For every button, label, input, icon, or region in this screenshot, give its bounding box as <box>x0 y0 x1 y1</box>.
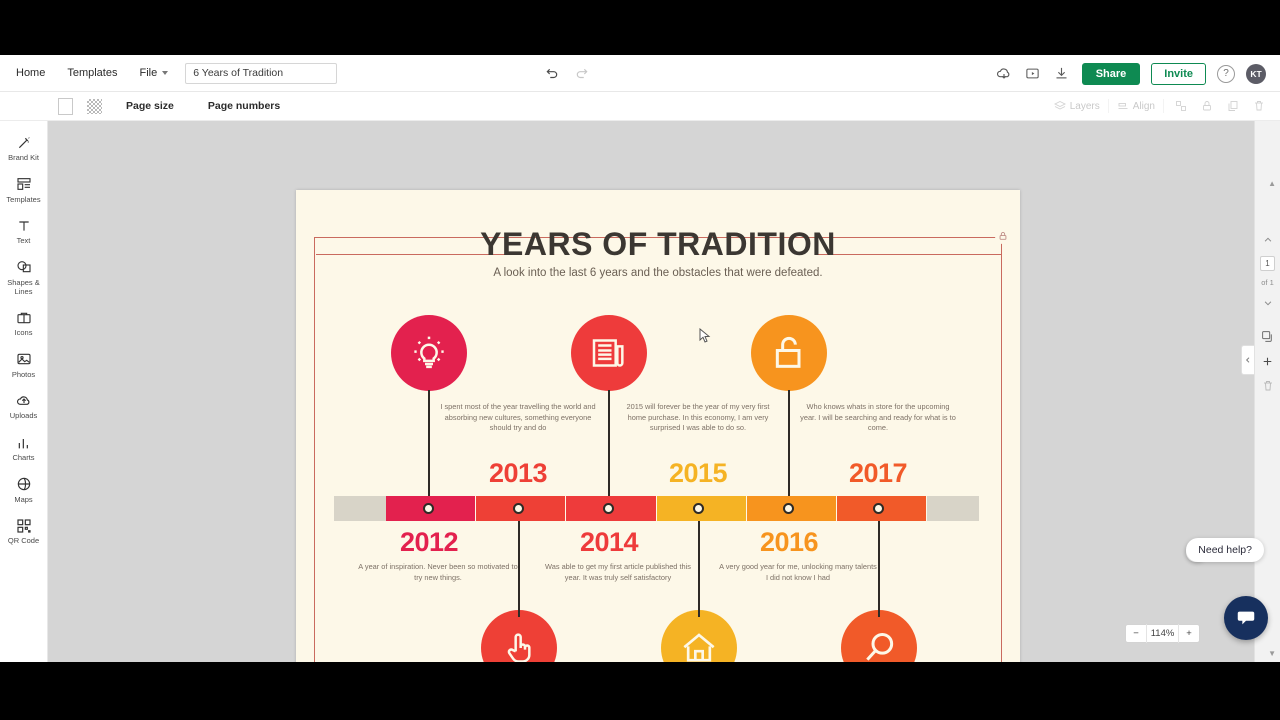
top-right-actions: Share Invite ? KT <box>995 55 1266 92</box>
sidebar-item-shapes-lines[interactable]: Shapes & Lines <box>0 252 48 302</box>
shapes-icon <box>15 259 32 276</box>
download-icon[interactable] <box>1053 65 1071 83</box>
event-text-2017[interactable]: Who knows whats in store for the upcomin… <box>798 402 958 434</box>
delete-page-icon[interactable] <box>1259 377 1277 395</box>
zoom-in-button[interactable]: + <box>1179 624 1199 643</box>
year-label-2015[interactable]: 2015 <box>638 458 758 489</box>
zoom-control: − 114% + <box>1125 624 1200 643</box>
scroll-down-arrow[interactable]: ▼ <box>1268 649 1276 658</box>
chat-button[interactable] <box>1224 596 1268 640</box>
stem-2012 <box>518 512 520 617</box>
toolbar-divider-2 <box>1163 99 1164 113</box>
sidebar-label-templates: Templates <box>6 196 40 205</box>
sidebar-label-icons: Icons <box>15 329 33 338</box>
sidebar-item-templates[interactable]: Templates <box>0 169 48 211</box>
invite-button[interactable]: Invite <box>1151 63 1206 85</box>
design-page[interactable]: YEARS OF TRADITION A look into the last … <box>296 190 1020 662</box>
undo-redo-group <box>543 55 591 92</box>
timeline-dot-2013 <box>423 503 434 514</box>
decorative-frame <box>314 237 1002 662</box>
year-label-2014[interactable]: 2014 <box>549 527 669 558</box>
toolbar-left-group: Page size Page numbers <box>0 98 290 115</box>
nav-file-menu[interactable]: File <box>128 55 179 92</box>
sidebar-item-photos[interactable]: Photos <box>0 344 48 386</box>
sidebar-item-maps[interactable]: Maps <box>0 469 48 511</box>
uploads-icon <box>15 392 32 409</box>
sidebar-item-brand-kit[interactable]: Brand Kit <box>0 127 48 169</box>
align-label: Align <box>1133 101 1155 112</box>
text-icon <box>15 217 32 234</box>
need-help-bubble[interactable]: Need help? <box>1186 538 1264 562</box>
stem-2014 <box>698 512 700 617</box>
chevron-down-icon <box>162 71 168 75</box>
letterbox-bottom <box>0 662 1280 720</box>
sidebar-item-charts[interactable]: Charts <box>0 427 48 469</box>
avatar[interactable]: KT <box>1246 64 1266 84</box>
sidebar-item-icons[interactable]: Icons <box>0 302 48 344</box>
duplicate-page-icon[interactable] <box>1259 327 1277 345</box>
present-icon[interactable] <box>1024 65 1042 83</box>
sidebar-label-shapes-lines: Shapes & Lines <box>0 279 48 296</box>
zoom-level-value[interactable]: 114% <box>1146 624 1179 643</box>
sidebar-label-photos: Photos <box>12 371 35 380</box>
transparency-pattern-swatch[interactable] <box>87 99 102 114</box>
left-sidebar: Brand Kit Templates Text <box>0 121 48 662</box>
stem-2015 <box>608 390 610 503</box>
share-button[interactable]: Share <box>1082 63 1141 85</box>
duplicate-icon[interactable] <box>1224 97 1242 115</box>
event-text-2013[interactable]: I spent most of the year travelling the … <box>438 402 598 434</box>
group-icon[interactable] <box>1172 97 1190 115</box>
page-title[interactable]: YEARS OF TRADITION <box>296 226 1020 263</box>
nav-file-label: File <box>139 67 157 79</box>
page-size-button[interactable]: Page size <box>116 100 184 112</box>
timeline-dot-2016 <box>873 503 884 514</box>
undo-icon[interactable] <box>543 65 561 83</box>
stem-2017 <box>788 390 790 503</box>
background-color-swatch[interactable] <box>58 98 73 115</box>
event-text-2014[interactable]: Was able to get my first article publish… <box>538 562 698 583</box>
event-text-2016[interactable]: A very good year for me, unlocking many … <box>718 562 878 583</box>
icons-icon <box>15 309 32 326</box>
secondary-toolbar: Page size Page numbers Layers Align <box>0 92 1280 121</box>
trash-icon[interactable] <box>1250 97 1268 115</box>
year-label-2017[interactable]: 2017 <box>818 458 938 489</box>
page-numbers-button[interactable]: Page numbers <box>198 100 290 112</box>
page-number-total: of 1 <box>1261 278 1274 287</box>
cloud-sync-icon[interactable] <box>995 65 1013 83</box>
qrcode-icon <box>15 517 32 534</box>
sidebar-label-brand-kit: Brand Kit <box>8 154 39 163</box>
timeline-dot-2015 <box>603 503 614 514</box>
toolbar-divider <box>1108 99 1109 113</box>
layers-button[interactable]: Layers <box>1054 100 1100 112</box>
event-text-2015[interactable]: 2015 will forever be the year of my very… <box>618 402 778 434</box>
nav-home[interactable]: Home <box>0 55 56 92</box>
sidebar-label-uploads: Uploads <box>10 412 38 421</box>
timeline-dot-2014 <box>693 503 704 514</box>
top-navigation-bar: Home Templates File <box>0 55 1280 92</box>
sidebar-item-qr-code[interactable]: QR Code <box>0 510 48 552</box>
stem-2016 <box>878 512 880 617</box>
year-label-2016[interactable]: 2016 <box>729 527 849 558</box>
scroll-up-arrow[interactable]: ▲ <box>1268 179 1276 188</box>
toolbar-right-group: Layers Align <box>1054 97 1268 115</box>
redo-icon[interactable] <box>573 65 591 83</box>
photos-icon <box>15 351 32 368</box>
letterbox-top <box>0 0 1280 55</box>
canvas-area[interactable]: YEARS OF TRADITION A look into the last … <box>48 121 1280 662</box>
page-prev-icon[interactable] <box>1259 231 1277 249</box>
document-title-input[interactable] <box>185 63 337 84</box>
zoom-out-button[interactable]: − <box>1126 624 1146 643</box>
timeline-cap-left <box>334 496 386 521</box>
timeline-dot-2017 <box>783 503 794 514</box>
sidebar-label-text: Text <box>17 237 31 246</box>
page-next-icon[interactable] <box>1259 294 1277 312</box>
charts-icon <box>15 434 32 451</box>
sidebar-item-text[interactable]: Text <box>0 210 48 252</box>
screen-root: Home Templates File <box>0 0 1280 720</box>
page-subtitle[interactable]: A look into the last 6 years and the obs… <box>296 267 1020 279</box>
timeline-dot-2012 <box>513 503 524 514</box>
sidebar-label-maps: Maps <box>14 496 32 505</box>
help-question-icon[interactable]: ? <box>1217 65 1235 83</box>
nav-templates[interactable]: Templates <box>56 55 128 92</box>
year-label-2012[interactable]: 2012 <box>369 527 489 558</box>
sidebar-label-charts: Charts <box>12 454 34 463</box>
align-button[interactable]: Align <box>1117 100 1155 112</box>
event-icon-2013[interactable] <box>391 315 467 391</box>
right-rail: ▲ 1 of 1 ▼ <box>1254 121 1280 662</box>
sidebar-label-qr-code: QR Code <box>8 537 39 546</box>
collapse-panel-button[interactable] <box>1241 345 1254 375</box>
maps-icon <box>15 476 32 493</box>
layers-label: Layers <box>1070 101 1100 112</box>
year-label-2013[interactable]: 2013 <box>458 458 578 489</box>
add-page-icon[interactable] <box>1259 352 1277 370</box>
lock-icon[interactable] <box>1198 97 1216 115</box>
page-number-current[interactable]: 1 <box>1260 256 1275 271</box>
event-text-2012[interactable]: A year of inspiration. Never been so mot… <box>358 562 518 583</box>
event-icon-2017[interactable] <box>751 315 827 391</box>
app-window: Home Templates File <box>0 55 1280 662</box>
timeline-cap-right <box>927 496 979 521</box>
sidebar-item-uploads[interactable]: Uploads <box>0 385 48 427</box>
stem-2013 <box>428 390 430 503</box>
magic-wand-icon <box>15 134 32 151</box>
event-icon-2015[interactable] <box>571 315 647 391</box>
templates-icon <box>15 176 32 193</box>
